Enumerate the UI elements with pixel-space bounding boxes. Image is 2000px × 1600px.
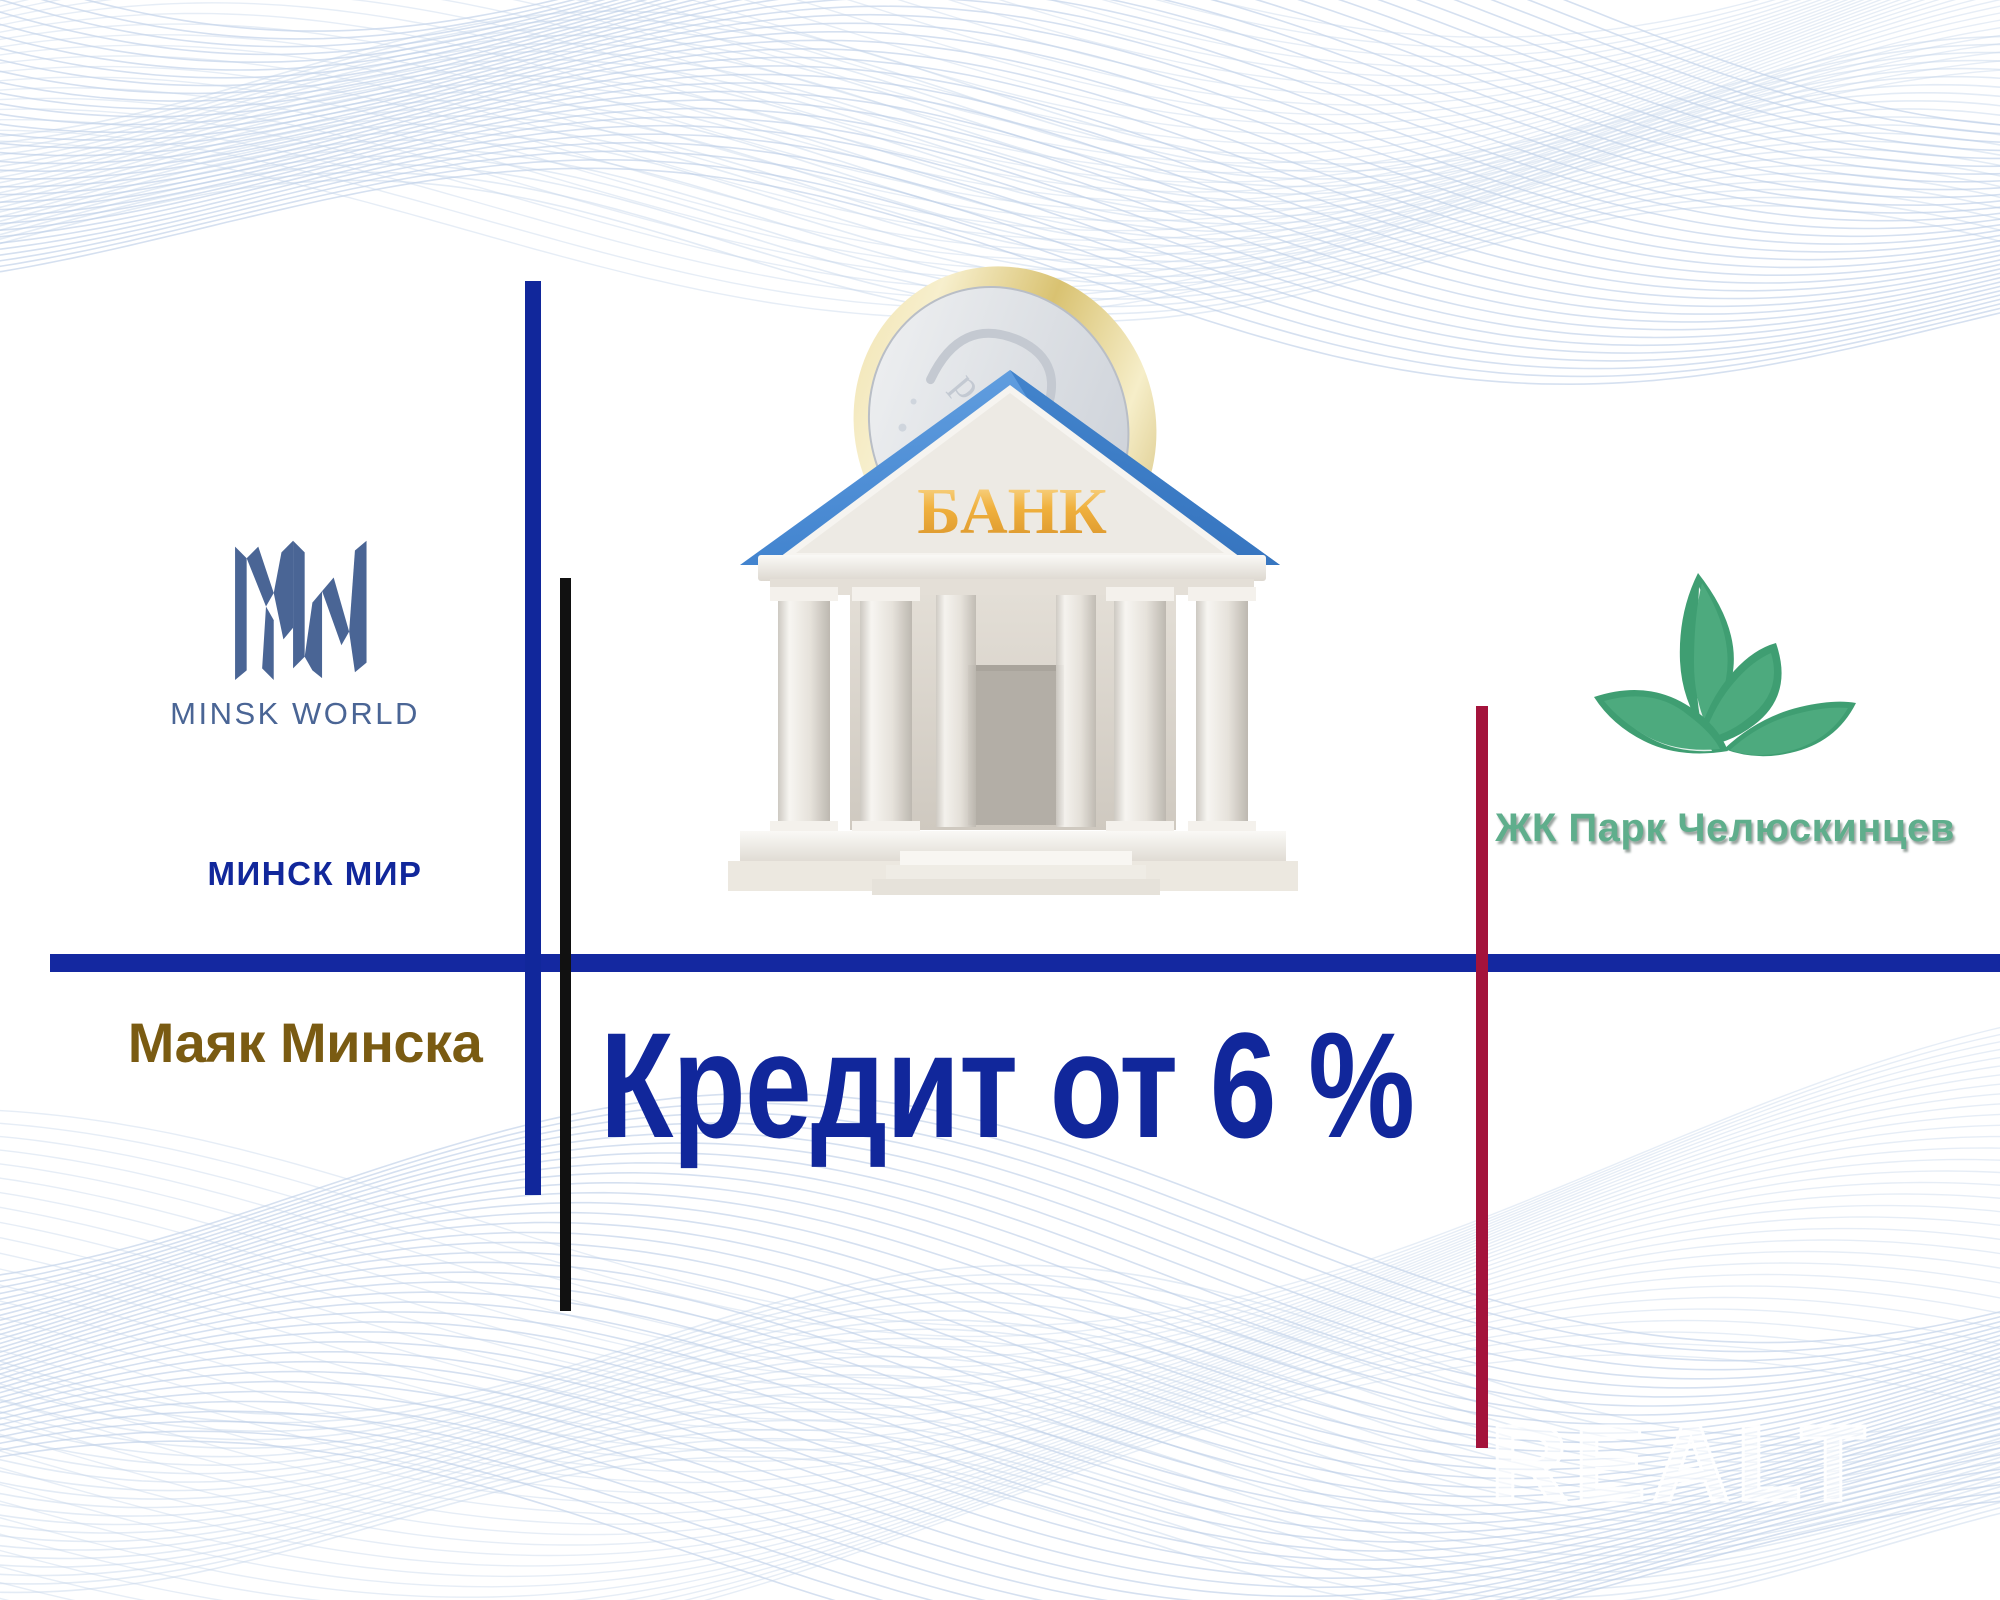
vertical-divider-red: [1476, 706, 1488, 1448]
bank-with-coin-graphic: рублi БАНК: [700, 265, 1320, 905]
vertical-divider-black: [560, 578, 571, 1311]
minsk-world-logo-block: MINSK WORLD: [150, 535, 440, 732]
promo-banner: REALT: [0, 0, 2000, 1600]
bank-sign-text: БАНК: [917, 475, 1107, 548]
park-chelyuskintsev-logo-block: ЖК Парк Челюскинцев: [1490, 565, 1960, 851]
headline-credit-rate: Кредит от 6 %: [600, 1010, 1304, 1160]
minsk-world-wordmark: MINSK WORLD: [150, 696, 440, 732]
mw-monogram-icon: [215, 535, 375, 680]
minsk-mir-label: МИНСК МИР: [150, 855, 480, 893]
park-chelyuskintsev-label: ЖК Парк Челюскинцев: [1490, 806, 1960, 851]
horizontal-divider-blue: [50, 954, 2000, 972]
mayak-minska-label: Маяк Минска: [120, 1010, 490, 1075]
green-leaves-icon: [1580, 565, 1870, 800]
vertical-divider-blue: [525, 281, 541, 1195]
